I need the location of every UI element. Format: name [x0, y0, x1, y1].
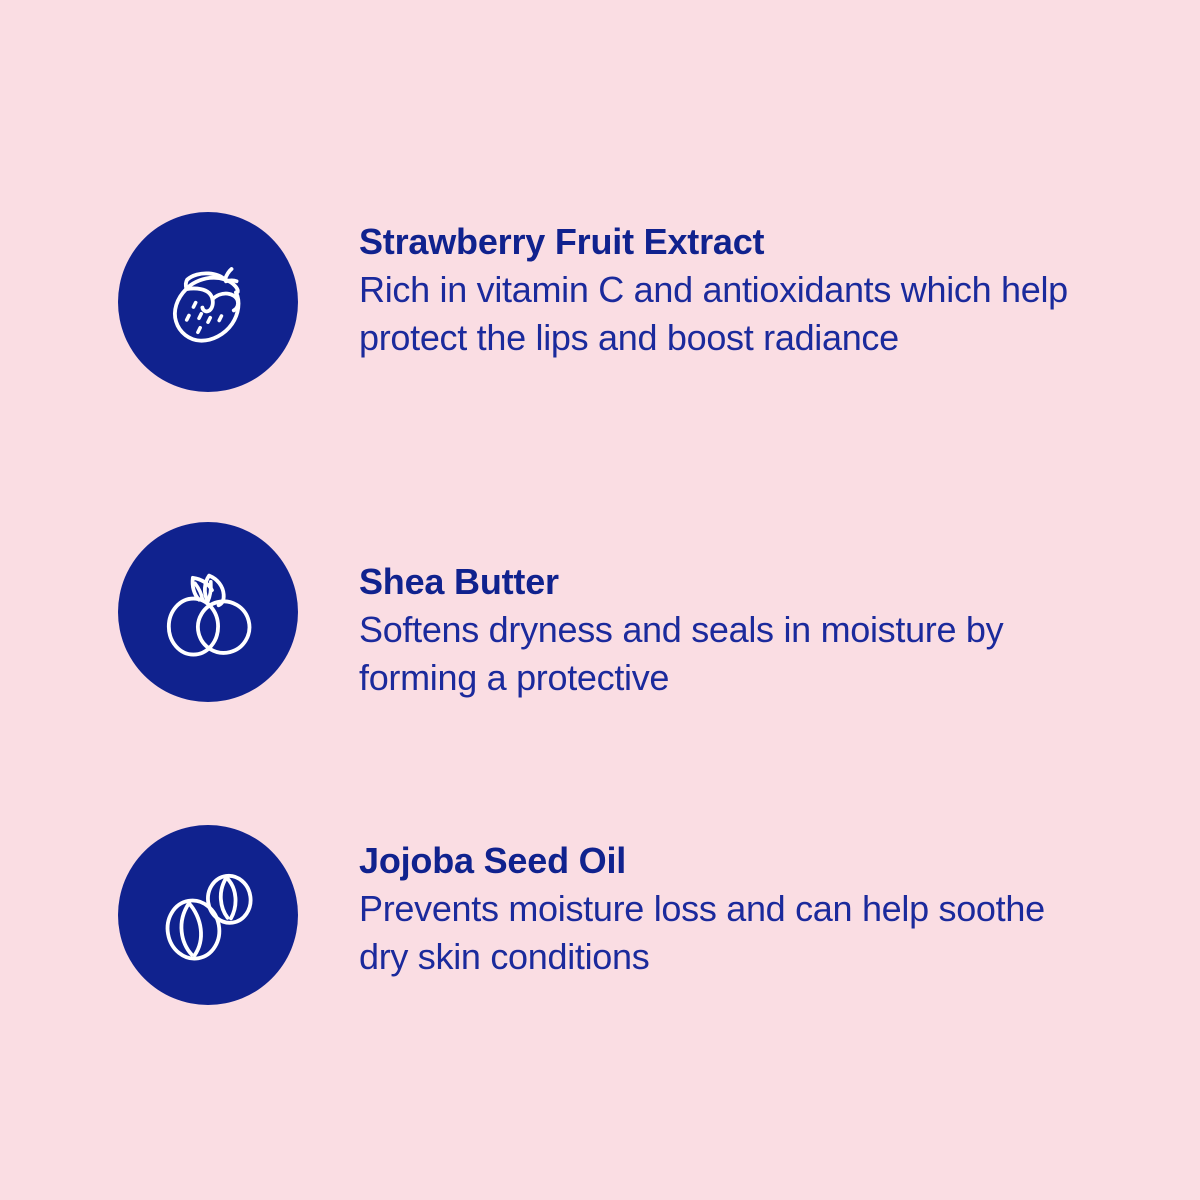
feature-row: Strawberry Fruit Extract Rich in vitamin…	[0, 212, 1200, 392]
feature-title: Strawberry Fruit Extract	[359, 218, 1074, 266]
feature-text: Shea Butter Softens dryness and seals in…	[359, 522, 1074, 702]
feature-title: Shea Butter	[359, 558, 1074, 606]
feature-description: Softens dryness and seals in moisture by…	[359, 606, 1049, 702]
feature-title: Jojoba Seed Oil	[359, 837, 1074, 885]
strawberry-icon	[152, 246, 264, 358]
feature-description: Prevents moisture loss and can help soot…	[359, 885, 1049, 981]
shea-nut-icon-badge	[118, 522, 298, 702]
strawberry-icon-badge	[118, 212, 298, 392]
feature-description: Rich in vitamin C and antioxidants which…	[359, 266, 1074, 362]
jojoba-seed-icon	[152, 859, 264, 971]
feature-text: Jojoba Seed Oil Prevents moisture loss a…	[359, 825, 1074, 981]
ingredient-benefits-panel: Strawberry Fruit Extract Rich in vitamin…	[0, 0, 1200, 1200]
feature-row: Shea Butter Softens dryness and seals in…	[0, 522, 1200, 702]
jojoba-seed-icon-badge	[118, 825, 298, 1005]
feature-row: Jojoba Seed Oil Prevents moisture loss a…	[0, 825, 1200, 1005]
feature-text: Strawberry Fruit Extract Rich in vitamin…	[359, 212, 1074, 362]
shea-nut-icon	[152, 556, 264, 668]
